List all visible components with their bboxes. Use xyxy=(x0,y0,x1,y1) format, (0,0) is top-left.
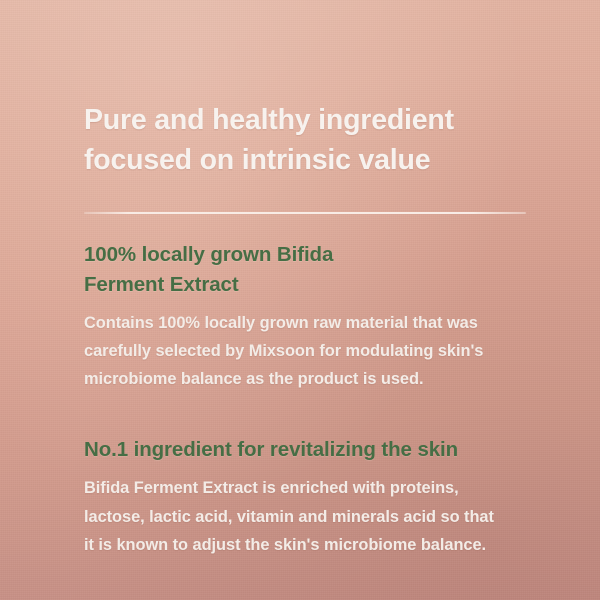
section-heading-2-line-1: No.1 ingredient for revitalizing the ski… xyxy=(84,435,526,465)
section-heading-2: No.1 ingredient for revitalizing the ski… xyxy=(84,435,526,465)
page-title-line-2: focused on intrinsic value xyxy=(84,140,526,180)
panel-content: Pure and healthy ingredient focused on i… xyxy=(0,0,600,559)
section-divider xyxy=(84,212,526,214)
page-title-line-1: Pure and healthy ingredient xyxy=(84,100,526,140)
page-title: Pure and healthy ingredient focused on i… xyxy=(84,0,526,181)
section-body-2-line-1: Bifida Ferment Extract is enriched with … xyxy=(84,474,526,502)
section-body-1-line-3: microbiome balance as the product is use… xyxy=(84,365,526,393)
section-bifida-ferment-extract: 100% locally grown Bifida Ferment Extrac… xyxy=(84,240,526,394)
section-body-1-line-1: Contains 100% locally grown raw material… xyxy=(84,309,526,337)
section-heading-1: 100% locally grown Bifida Ferment Extrac… xyxy=(84,240,526,300)
ingredient-info-panel: Pure and healthy ingredient focused on i… xyxy=(0,0,600,600)
section-heading-1-line-2: Ferment Extract xyxy=(84,270,526,300)
section-heading-1-line-1: 100% locally grown Bifida xyxy=(84,240,526,270)
section-body-1: Contains 100% locally grown raw material… xyxy=(84,309,526,394)
section-body-2-line-3: it is known to adjust the skin's microbi… xyxy=(84,531,526,559)
section-body-1-line-2: carefully selected by Mixsoon for modula… xyxy=(84,337,526,365)
section-body-2: Bifida Ferment Extract is enriched with … xyxy=(84,474,526,559)
section-body-2-line-2: lactose, lactic acid, vitamin and minera… xyxy=(84,503,526,531)
section-no1-ingredient: No.1 ingredient for revitalizing the ski… xyxy=(84,435,526,559)
